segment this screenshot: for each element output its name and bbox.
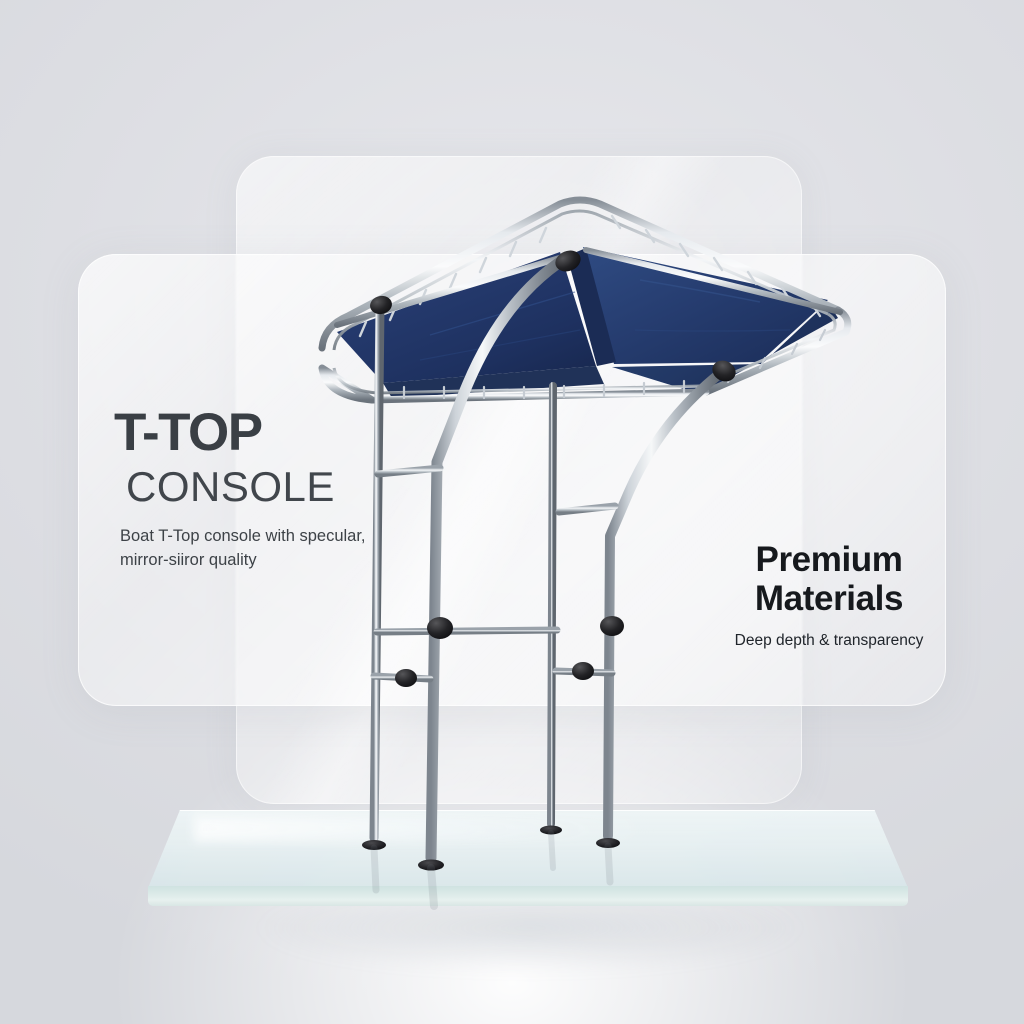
product-hero-scene: T-TOP CONSOLE Boat T-Top console with sp… xyxy=(0,0,1024,1024)
right-title-text: Premium Materials xyxy=(714,540,944,618)
headline-text: CONSOLE xyxy=(126,465,444,509)
leg-reflections xyxy=(374,833,610,906)
right-copy-block: Premium Materials Deep depth & transpare… xyxy=(714,540,944,650)
canopy-fabric xyxy=(337,247,838,398)
left-copy-block: T-TOP CONSOLE Boat T-Top console with sp… xyxy=(114,406,444,573)
kicker-text: T-TOP xyxy=(114,406,444,459)
subcopy-text: Boat T-Top console with specular, mirror… xyxy=(120,525,370,573)
right-subtitle-text: Deep depth & transparency xyxy=(714,632,944,650)
frame-feet xyxy=(362,826,620,871)
